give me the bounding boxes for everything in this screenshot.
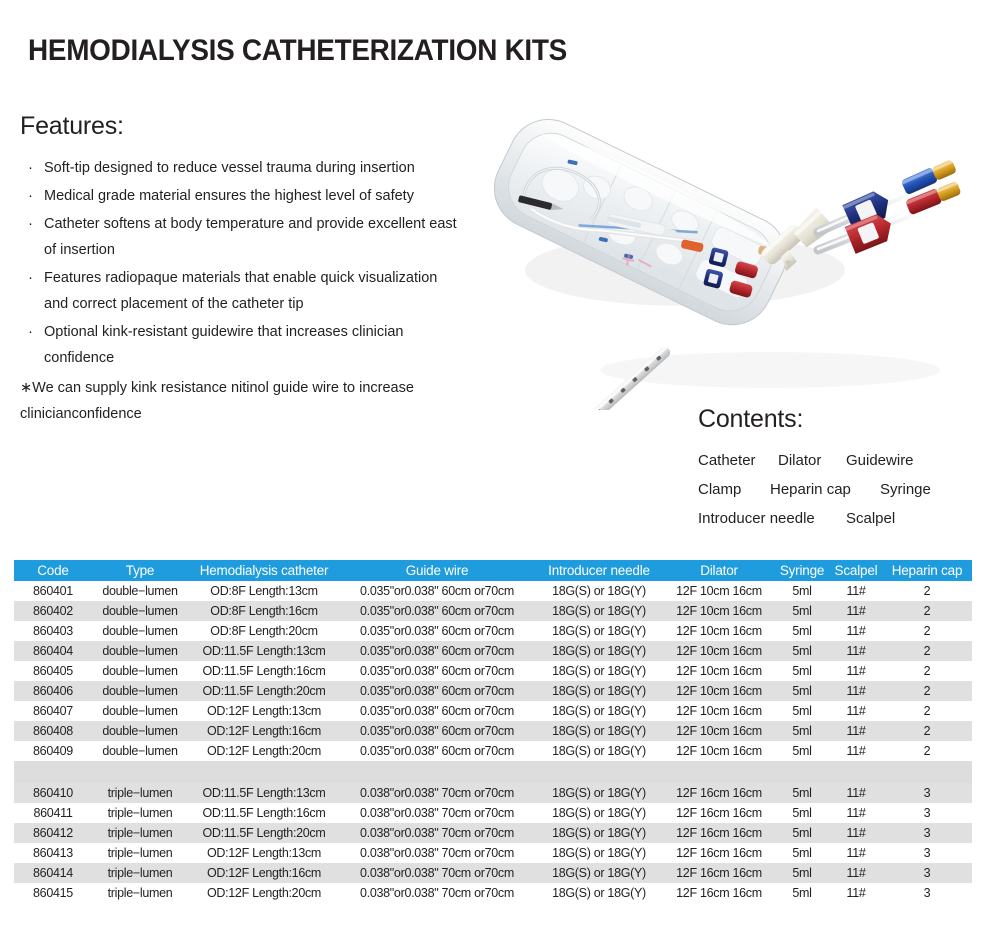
contents-row: ClampHeparin capSyringe: [698, 475, 998, 504]
contents-section: Contents: CatheterDilatorGuidewireClampH…: [698, 405, 998, 533]
table-cell: 0.035"or0.038" 60cm or70cm: [340, 681, 534, 701]
table-cell: 2: [882, 621, 972, 641]
table-cell: 18G(S) or 18G(Y): [534, 621, 664, 641]
table-cell: 3: [882, 883, 972, 903]
table-cell: double−lumen: [92, 701, 188, 721]
table-cell: 18G(S) or 18G(Y): [534, 641, 664, 661]
table-cell: 3: [882, 863, 972, 883]
table-cell: 12F 10cm 16cm: [664, 721, 774, 741]
table-cell: 18G(S) or 18G(Y): [534, 803, 664, 823]
table-cell: 12F 10cm 16cm: [664, 741, 774, 761]
table-cell: 860406: [14, 681, 92, 701]
table-cell: 12F 16cm 16cm: [664, 823, 774, 843]
table-cell: 0.038"or0.038" 70cm or70cm: [340, 843, 534, 863]
table-cell: 0.035"or0.038" 60cm or70cm: [340, 601, 534, 621]
contents-item: Clamp: [698, 475, 770, 504]
table-cell: 12F 10cm 16cm: [664, 601, 774, 621]
table-row: 860415triple−lumenOD:12F Length:20cm0.03…: [14, 883, 972, 903]
table-row: 860409double−lumenOD:12F Length:20cm0.03…: [14, 741, 972, 761]
contents-item-rows: CatheterDilatorGuidewireClampHeparin cap…: [698, 446, 998, 533]
table-cell: 12F 10cm 16cm: [664, 581, 774, 601]
table-cell: 860412: [14, 823, 92, 843]
table-row: 860403double−lumenOD:8F Length:20cm0.035…: [14, 621, 972, 641]
feature-item-text: Catheter softens at body temperature and…: [44, 216, 457, 258]
table-cell: 18G(S) or 18G(Y): [534, 783, 664, 803]
table-cell: 5ml: [774, 661, 830, 681]
table-cell: 11#: [830, 883, 882, 903]
table-cell: double−lumen: [92, 641, 188, 661]
contents-item: Dilator: [778, 446, 846, 475]
table-cell: OD:11.5F Length:13cm: [188, 641, 340, 661]
bullet-icon: ·: [28, 183, 33, 209]
table-cell: 0.038"or0.038" 70cm or70cm: [340, 883, 534, 903]
table-cell: 18G(S) or 18G(Y): [534, 883, 664, 903]
table-cell: OD:11.5F Length:16cm: [188, 803, 340, 823]
table-cell: triple−lumen: [92, 883, 188, 903]
feature-item-text: Features radiopaque materials that enabl…: [44, 270, 437, 312]
table-cell: 5ml: [774, 823, 830, 843]
red-extension-limb: [818, 180, 962, 254]
table-cell: triple−lumen: [92, 803, 188, 823]
table-cell: 0.035"or0.038" 60cm or70cm: [340, 661, 534, 681]
table-cell: 11#: [830, 741, 882, 761]
features-note: ∗We can supply kink resistance nitinol g…: [20, 375, 440, 427]
table-cell: OD:12F Length:16cm: [188, 721, 340, 741]
table-cell: 5ml: [774, 581, 830, 601]
table-cell: double−lumen: [92, 681, 188, 701]
table-cell: double−lumen: [92, 721, 188, 741]
table-cell: 0.038"or0.038" 70cm or70cm: [340, 823, 534, 843]
table-cell: 5ml: [774, 843, 830, 863]
column-header: Type: [92, 560, 188, 581]
table-cell: 12F 16cm 16cm: [664, 843, 774, 863]
table-cell: 860404: [14, 641, 92, 661]
table-cell: 12F 16cm 16cm: [664, 863, 774, 883]
features-section: Features: ·Soft-tip designed to reduce v…: [20, 112, 490, 442]
table-cell: 0.035"or0.038" 60cm or70cm: [340, 621, 534, 641]
features-heading: Features:: [20, 112, 490, 141]
table-cell: 5ml: [774, 681, 830, 701]
table-cell: 2: [882, 701, 972, 721]
table-cell: OD:11.5F Length:16cm: [188, 661, 340, 681]
table-cell: 12F 16cm 16cm: [664, 803, 774, 823]
column-header: Syringe: [774, 560, 830, 581]
table-cell: OD:12F Length:13cm: [188, 843, 340, 863]
column-header: Introducer needle: [534, 560, 664, 581]
product-image: [470, 100, 1000, 410]
table-cell: 2: [882, 601, 972, 621]
feature-item: ·Medical grade material ensures the high…: [20, 183, 460, 209]
feature-item: ·Soft-tip designed to reduce vessel trau…: [20, 155, 460, 181]
table-cell: 0.038"or0.038" 70cm or70cm: [340, 803, 534, 823]
table-cell: 5ml: [774, 641, 830, 661]
table-cell: 0.035"or0.038" 60cm or70cm: [340, 641, 534, 661]
catheter-kit-illustration: [470, 100, 1000, 410]
table-cell: 860415: [14, 883, 92, 903]
table-cell: 11#: [830, 601, 882, 621]
table-cell: 2: [882, 721, 972, 741]
table-cell: OD:11.5F Length:20cm: [188, 681, 340, 701]
table-cell: 3: [882, 803, 972, 823]
table-row: 860406double−lumenOD:11.5F Length:20cm0.…: [14, 681, 972, 701]
table-cell: 0.038"or0.038" 70cm or70cm: [340, 783, 534, 803]
table-group-separator-cell: [14, 761, 972, 783]
contents-item: Guidewire: [846, 446, 914, 475]
contents-row: CatheterDilatorGuidewire: [698, 446, 998, 475]
table-cell: 18G(S) or 18G(Y): [534, 823, 664, 843]
table-cell: 12F 10cm 16cm: [664, 701, 774, 721]
table-row: 860405double−lumenOD:11.5F Length:16cm0.…: [14, 661, 972, 681]
column-header: Hemodialysis catheter: [188, 560, 340, 581]
column-header: Dilator: [664, 560, 774, 581]
table-cell: 12F 16cm 16cm: [664, 783, 774, 803]
table-cell: 12F 10cm 16cm: [664, 681, 774, 701]
table-cell: 18G(S) or 18G(Y): [534, 601, 664, 621]
feature-item: ·Catheter softens at body temperature an…: [20, 211, 460, 263]
contents-item: Scalpel: [846, 504, 895, 533]
table-cell: 12F 10cm 16cm: [664, 641, 774, 661]
table-row: 860410triple−lumenOD:11.5F Length:13cm0.…: [14, 783, 972, 803]
table-cell: 5ml: [774, 803, 830, 823]
table-cell: 12F 10cm 16cm: [664, 621, 774, 641]
table-row: 860412triple−lumenOD:11.5F Length:20cm0.…: [14, 823, 972, 843]
table-cell: 5ml: [774, 721, 830, 741]
table-body: 860401double−lumenOD:8F Length:13cm0.035…: [14, 581, 972, 903]
table-cell: OD:8F Length:13cm: [188, 581, 340, 601]
table-cell: double−lumen: [92, 621, 188, 641]
table-cell: 860402: [14, 601, 92, 621]
feature-item: ·Optional kink-resistant guidewire that …: [20, 319, 460, 371]
column-header: Code: [14, 560, 92, 581]
table-cell: 860403: [14, 621, 92, 641]
table-cell: 11#: [830, 681, 882, 701]
specification-table: CodeTypeHemodialysis catheterGuide wireI…: [14, 560, 972, 903]
table-cell: OD:11.5F Length:13cm: [188, 783, 340, 803]
table-cell: 0.035"or0.038" 60cm or70cm: [340, 721, 534, 741]
table-cell: 860413: [14, 843, 92, 863]
table-cell: double−lumen: [92, 581, 188, 601]
table-cell: 5ml: [774, 621, 830, 641]
table-row: 860414triple−lumenOD:12F Length:16cm0.03…: [14, 863, 972, 883]
table-cell: 860405: [14, 661, 92, 681]
contents-row: Introducer needleScalpel: [698, 504, 998, 533]
page-title: HEMODIALYSIS CATHETERIZATION KITS: [28, 34, 567, 68]
table-cell: 0.038"or0.038" 70cm or70cm: [340, 863, 534, 883]
table-cell: double−lumen: [92, 741, 188, 761]
table-cell: OD:12F Length:20cm: [188, 883, 340, 903]
table-row: 860407double−lumenOD:12F Length:13cm0.03…: [14, 701, 972, 721]
table-cell: 18G(S) or 18G(Y): [534, 701, 664, 721]
table-cell: 5ml: [774, 783, 830, 803]
table-cell: 11#: [830, 803, 882, 823]
table-cell: 3: [882, 823, 972, 843]
contents-item: Catheter: [698, 446, 778, 475]
column-header: Scalpel: [830, 560, 882, 581]
table-cell: 11#: [830, 701, 882, 721]
table-cell: 11#: [830, 721, 882, 741]
table-row: 860402double−lumenOD:8F Length:16cm0.035…: [14, 601, 972, 621]
table-cell: 18G(S) or 18G(Y): [534, 863, 664, 883]
table-cell: 18G(S) or 18G(Y): [534, 661, 664, 681]
feature-item: ·Features radiopaque materials that enab…: [20, 265, 460, 317]
table-cell: 860401: [14, 581, 92, 601]
column-header: Heparin cap: [882, 560, 972, 581]
table-cell: 11#: [830, 843, 882, 863]
table-cell: 2: [882, 661, 972, 681]
table-cell: triple−lumen: [92, 783, 188, 803]
table-row: 860413triple−lumenOD:12F Length:13cm0.03…: [14, 843, 972, 863]
table-cell: 860407: [14, 701, 92, 721]
table-cell: 11#: [830, 581, 882, 601]
table-cell: triple−lumen: [92, 843, 188, 863]
feature-item-text: Medical grade material ensures the highe…: [44, 188, 414, 204]
table-cell: 860408: [14, 721, 92, 741]
contents-heading: Contents:: [698, 405, 998, 434]
table-cell: double−lumen: [92, 661, 188, 681]
features-list: ·Soft-tip designed to reduce vessel trau…: [20, 155, 490, 371]
table-cell: 860414: [14, 863, 92, 883]
product-datasheet-page: HEMODIALYSIS CATHETERIZATION KITS Featur…: [0, 0, 1000, 927]
contents-item: Heparin cap: [770, 475, 880, 504]
table-cell: 2: [882, 681, 972, 701]
table-cell: 5ml: [774, 741, 830, 761]
table-cell: 0.035"or0.038" 60cm or70cm: [340, 581, 534, 601]
table-header: CodeTypeHemodialysis catheterGuide wireI…: [14, 560, 972, 581]
contents-item: Syringe: [880, 475, 931, 504]
table-cell: 11#: [830, 783, 882, 803]
table-cell: 860409: [14, 741, 92, 761]
table-row: 860408double−lumenOD:12F Length:16cm0.03…: [14, 721, 972, 741]
table-group-separator: [14, 761, 972, 783]
table-cell: OD:12F Length:13cm: [188, 701, 340, 721]
column-header: Guide wire: [340, 560, 534, 581]
table-cell: 860411: [14, 803, 92, 823]
table-cell: 11#: [830, 823, 882, 843]
table-cell: double−lumen: [92, 601, 188, 621]
table-cell: 860410: [14, 783, 92, 803]
table-cell: OD:12F Length:20cm: [188, 741, 340, 761]
table-cell: 5ml: [774, 863, 830, 883]
table-row: 860401double−lumenOD:8F Length:13cm0.035…: [14, 581, 972, 601]
table-cell: 12F 16cm 16cm: [664, 883, 774, 903]
table-cell: 0.035"or0.038" 60cm or70cm: [340, 701, 534, 721]
table-cell: OD:12F Length:16cm: [188, 863, 340, 883]
table-cell: 2: [882, 741, 972, 761]
table-cell: 12F 10cm 16cm: [664, 661, 774, 681]
table-cell: 18G(S) or 18G(Y): [534, 581, 664, 601]
table-cell: 5ml: [774, 601, 830, 621]
table-cell: OD:8F Length:16cm: [188, 601, 340, 621]
table-header-row: CodeTypeHemodialysis catheterGuide wireI…: [14, 560, 972, 581]
table-cell: 2: [882, 581, 972, 601]
table-cell: 11#: [830, 863, 882, 883]
table-cell: 18G(S) or 18G(Y): [534, 741, 664, 761]
bullet-icon: ·: [28, 319, 33, 345]
table-cell: 11#: [830, 641, 882, 661]
bullet-icon: ·: [28, 155, 33, 181]
table-row: 860411triple−lumenOD:11.5F Length:16cm0.…: [14, 803, 972, 823]
table-cell: triple−lumen: [92, 823, 188, 843]
table-cell: OD:11.5F Length:20cm: [188, 823, 340, 843]
table-cell: 2: [882, 641, 972, 661]
table-cell: 11#: [830, 621, 882, 641]
table-cell: 18G(S) or 18G(Y): [534, 681, 664, 701]
feature-item-text: Optional kink-resistant guidewire that i…: [44, 324, 403, 366]
table-row: 860404double−lumenOD:11.5F Length:13cm0.…: [14, 641, 972, 661]
table-cell: 18G(S) or 18G(Y): [534, 721, 664, 741]
table-cell: 3: [882, 783, 972, 803]
table-cell: 5ml: [774, 701, 830, 721]
table-cell: 3: [882, 843, 972, 863]
table-cell: OD:8F Length:20cm: [188, 621, 340, 641]
table-cell: 11#: [830, 661, 882, 681]
contents-item: Introducer needle: [698, 504, 846, 533]
feature-item-text: Soft-tip designed to reduce vessel traum…: [44, 160, 415, 176]
bullet-icon: ·: [28, 211, 33, 237]
table-cell: triple−lumen: [92, 863, 188, 883]
table-cell: 5ml: [774, 883, 830, 903]
bullet-icon: ·: [28, 265, 33, 291]
table-cell: 18G(S) or 18G(Y): [534, 843, 664, 863]
table-cell: 0.035"or0.038" 60cm or70cm: [340, 741, 534, 761]
